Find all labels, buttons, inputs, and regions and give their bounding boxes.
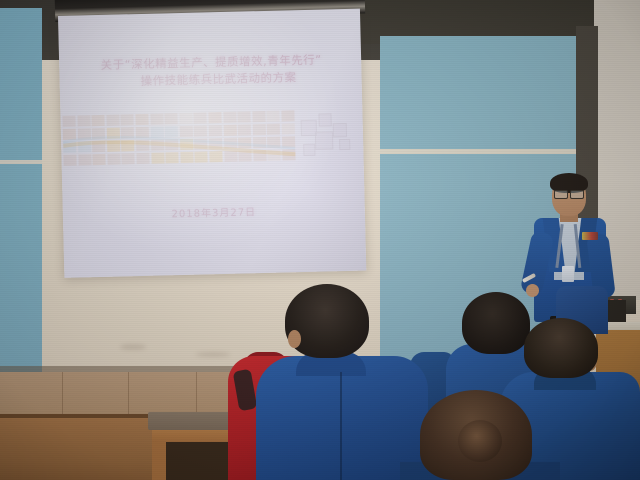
presenter-hand-left [526, 284, 539, 297]
wall-panel-blue-left [0, 8, 42, 408]
wall-mark [196, 352, 230, 357]
photo-scene: 关于“深化精益生产、提质增效,青年先行” 操作技能练兵比武活动的方案 [0, 0, 640, 480]
wall-mark [120, 344, 146, 350]
projection-screen: 关于“深化精益生产、提质增效,青年先行” 操作技能练兵比武活动的方案 [58, 9, 366, 278]
jacket-seam [340, 372, 342, 480]
glasses-icon [554, 190, 584, 197]
hair-bun [458, 420, 502, 462]
jacket-logo-patch [582, 232, 598, 240]
audience-blue-right-hair [524, 318, 598, 378]
presentation-slide: 关于“深化精益生产、提质增效,青年先行” 操作技能练兵比武活动的方案 [58, 9, 366, 278]
panel-stripe [380, 149, 594, 154]
slide-title: 关于“深化精益生产、提质增效,青年先行” 操作技能练兵比武活动的方案 [65, 51, 358, 92]
mosaic-tile-band [62, 110, 295, 166]
scattered-squares-graphic [298, 113, 361, 161]
audience-ear [288, 330, 301, 348]
panel-stripe [0, 160, 42, 164]
id-badge [562, 266, 574, 282]
slide-date: 2018年3月27日 [63, 201, 365, 223]
audience-blue-bob-hair [462, 292, 530, 354]
